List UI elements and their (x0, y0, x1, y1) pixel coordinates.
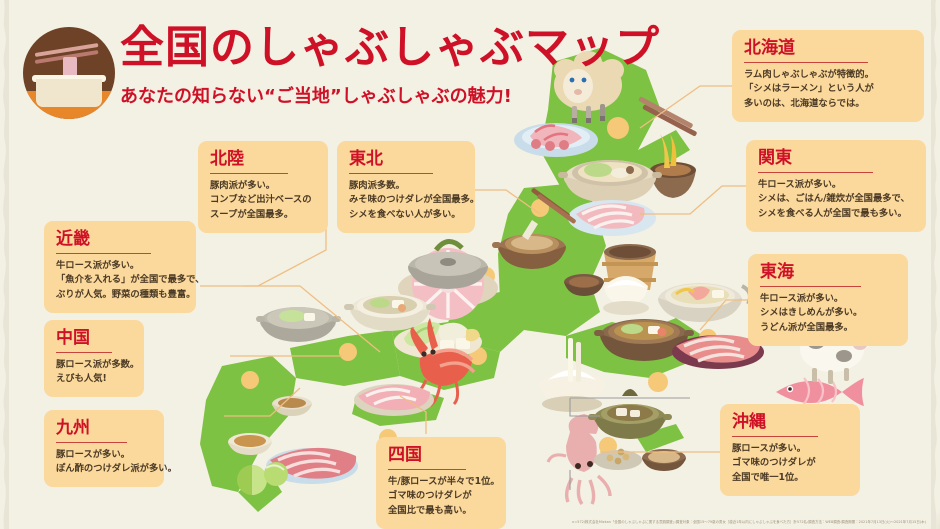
callout-kanto-line-2: シメは、ごはん/雑炊が全国最多で、 (758, 192, 914, 207)
callout-okinawa-title: 沖縄 (732, 413, 818, 437)
callout-tokai-line-3: うどん派が全国最多。 (760, 321, 896, 336)
callout-kinki-line-1: 牛ロース派が多い。 (56, 259, 184, 274)
callout-shikoku-line-3: 全国比で最も高い。 (388, 504, 494, 519)
page-subtitle: あなたの知らない“ご当地”しゃぶしゃぶの魅力! (120, 82, 512, 108)
callout-tokai-title: 東海 (760, 263, 861, 287)
callout-tohoku-line-1: 豚肉派多数。 (349, 179, 463, 194)
callout-kyushu-line-2: ぽん酢のつけダレ派が多い。 (56, 462, 152, 477)
logo-pot-body (36, 79, 102, 107)
callout-hokuriku[interactable]: 北陸 豚肉派が多い。 コンブなど出汁ベースの スープが全国最多。 (198, 141, 328, 233)
callout-kanto-title: 関東 (758, 149, 873, 173)
callout-tokai[interactable]: 東海 牛ロース派が多い。 シメはきしめんが多い。 うどん派が全国最多。 (748, 254, 908, 346)
kanto-hotpot-illustration (658, 283, 750, 322)
callout-chugoku[interactable]: 中国 豚ロース派が多数。 えびも人気! (44, 320, 144, 397)
callout-kyushu-title: 九州 (56, 419, 127, 443)
callout-tohoku-line-3: シメを食べない人が多い。 (349, 208, 463, 223)
callout-kanto-line-1: 牛ロース派が多い。 (758, 178, 914, 193)
callout-shikoku-line-2: ゴマ味のつけダレが (388, 489, 494, 504)
callout-kanto[interactable]: 関東 牛ロース派が多い。 シメは、ごはん/雑炊が全国最多で、 シメを食べる人が全… (746, 140, 926, 232)
callout-hokuriku-title: 北陸 (210, 150, 288, 174)
callout-kinki-line-3: ぶりが人気。野菜の種類も豊富。 (56, 288, 184, 303)
callout-okinawa-line-2: ゴマ味のつけダレが (732, 456, 848, 471)
callout-hokuriku-line-1: 豚肉派が多い。 (210, 179, 316, 194)
callout-hokkaido-line-2: 「シメはラーメン」という人が (744, 82, 912, 97)
callout-okinawa-line-3: 全国で唯一1位。 (732, 471, 848, 486)
callout-hokuriku-line-3: スープが全国最多。 (210, 208, 316, 223)
callout-kinki[interactable]: 近畿 牛ロース派が多い。 「魚介を入れる」が全国で最多で、 ぶりが人気。野菜の種… (44, 221, 196, 313)
callout-kanto-line-3: シメを食べる人が全国で最も多い。 (758, 207, 914, 222)
rice-bowl-illustration (603, 276, 649, 315)
callout-tokai-line-1: 牛ロース派が多い。 (760, 292, 896, 307)
callout-shikoku[interactable]: 四国 牛/豚ロースが半々で1位。 ゴマ味のつけダレが 全国比で最も高い。 (376, 437, 506, 529)
callout-chugoku-line-1: 豚ロース派が多数。 (56, 358, 132, 373)
callout-tohoku-line-2: みそ味のつけダレが全国最多。 (349, 193, 463, 208)
callout-hokkaido-line-3: 多いのは、北海道ならでは。 (744, 97, 912, 112)
callout-hokkaido-title: 北海道 (744, 39, 868, 63)
lamb-meat-plate-illustration (514, 123, 598, 157)
callout-tokai-line-2: シメはきしめんが多い。 (760, 306, 896, 321)
shikoku-pork-plate-illustration (354, 384, 434, 416)
chugoku-pot-illustration (256, 307, 341, 342)
survey-footnote: n=572/株式会社Mizkan「全国のしゃぶしゃぶに関する意識調査」・調査対象… (572, 519, 926, 524)
page-title: 全国のしゃぶしゃぶマップ (120, 26, 660, 70)
callout-tohoku[interactable]: 東北 豚肉派多数。 みそ味のつけダレが全国最多。 シメを食べない人が多い。 (337, 141, 475, 233)
pork-plate-illustration (568, 200, 656, 236)
callout-kyushu[interactable]: 九州 豚ロースが多い。 ぽん酢のつけダレ派が多い。 (44, 410, 164, 487)
callout-hokuriku-line-2: コンブなど出汁ベースの (210, 193, 316, 208)
callout-tohoku-title: 東北 (349, 150, 433, 174)
callout-okinawa[interactable]: 沖縄 豚ロースが多い。 ゴマ味のつけダレが 全国で唯一1位。 (720, 404, 860, 496)
callout-hokkaido[interactable]: 北海道 ラム肉しゃぶしゃぶが特徴的。 「シメはラーメン」という人が 多いのは、北… (732, 30, 924, 122)
callout-shikoku-line-1: 牛/豚ロースが半々で1位。 (388, 475, 494, 490)
callout-chugoku-title: 中国 (56, 329, 112, 353)
callout-shikoku-title: 四国 (388, 446, 466, 470)
callout-kinki-title: 近畿 (56, 230, 151, 254)
shabu-shabu-pot-icon (23, 27, 115, 119)
callout-okinawa-line-1: 豚ロースが多い。 (732, 442, 848, 457)
callout-chugoku-line-2: えびも人気! (56, 372, 132, 387)
callout-hokkaido-line-1: ラム肉しゃぶしゃぶが特徴的。 (744, 68, 912, 83)
callout-kinki-line-2: 「魚介を入れる」が全国で最多で、 (56, 273, 184, 288)
fish-illustration (776, 378, 864, 406)
callout-kyushu-line-1: 豚ロースが多い。 (56, 448, 152, 463)
